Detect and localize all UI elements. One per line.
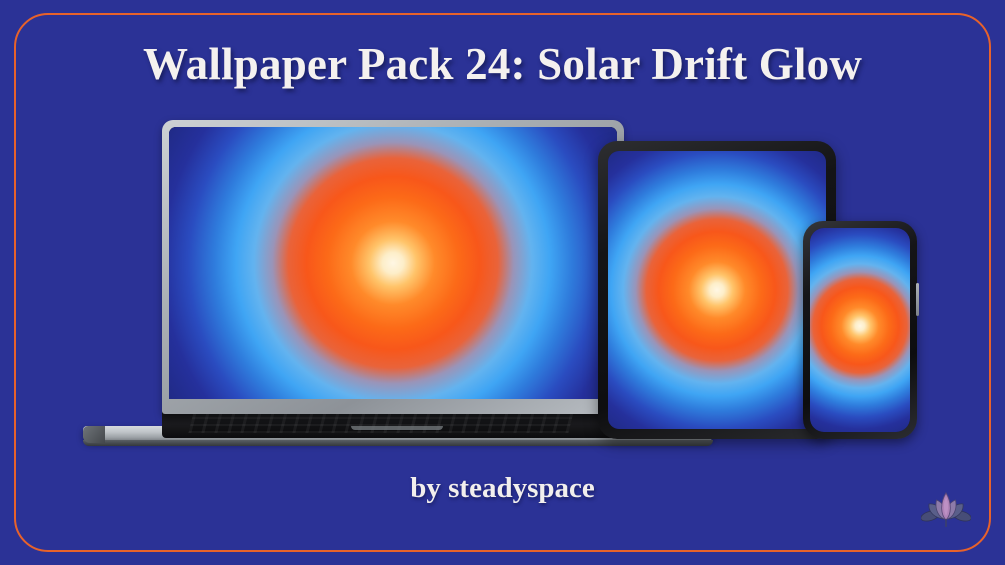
device-phone	[803, 221, 917, 439]
wallpaper-pack-slide: Wallpaper Pack 24: Solar Drift Glow	[0, 0, 1005, 565]
phone-side-button[interactable]	[916, 283, 919, 316]
wallpaper-preview-laptop	[169, 127, 617, 399]
tablet-body	[598, 141, 836, 439]
byline: by steadyspace	[0, 472, 1005, 505]
laptop-screen	[169, 127, 617, 399]
tablet-screen	[608, 151, 826, 429]
phone-screen	[810, 228, 910, 432]
device-tablet	[598, 141, 836, 439]
wallpaper-preview-phone	[810, 228, 910, 432]
laptop-base-notch	[351, 426, 443, 430]
wallpaper-preview-tablet	[608, 151, 826, 429]
page-title: Wallpaper Pack 24: Solar Drift Glow	[0, 38, 1005, 90]
phone-body	[803, 221, 917, 439]
laptop-lid	[162, 120, 624, 414]
laptop-foot	[83, 426, 105, 443]
laptop-base-edge	[83, 440, 713, 446]
lotus-icon	[921, 480, 971, 530]
